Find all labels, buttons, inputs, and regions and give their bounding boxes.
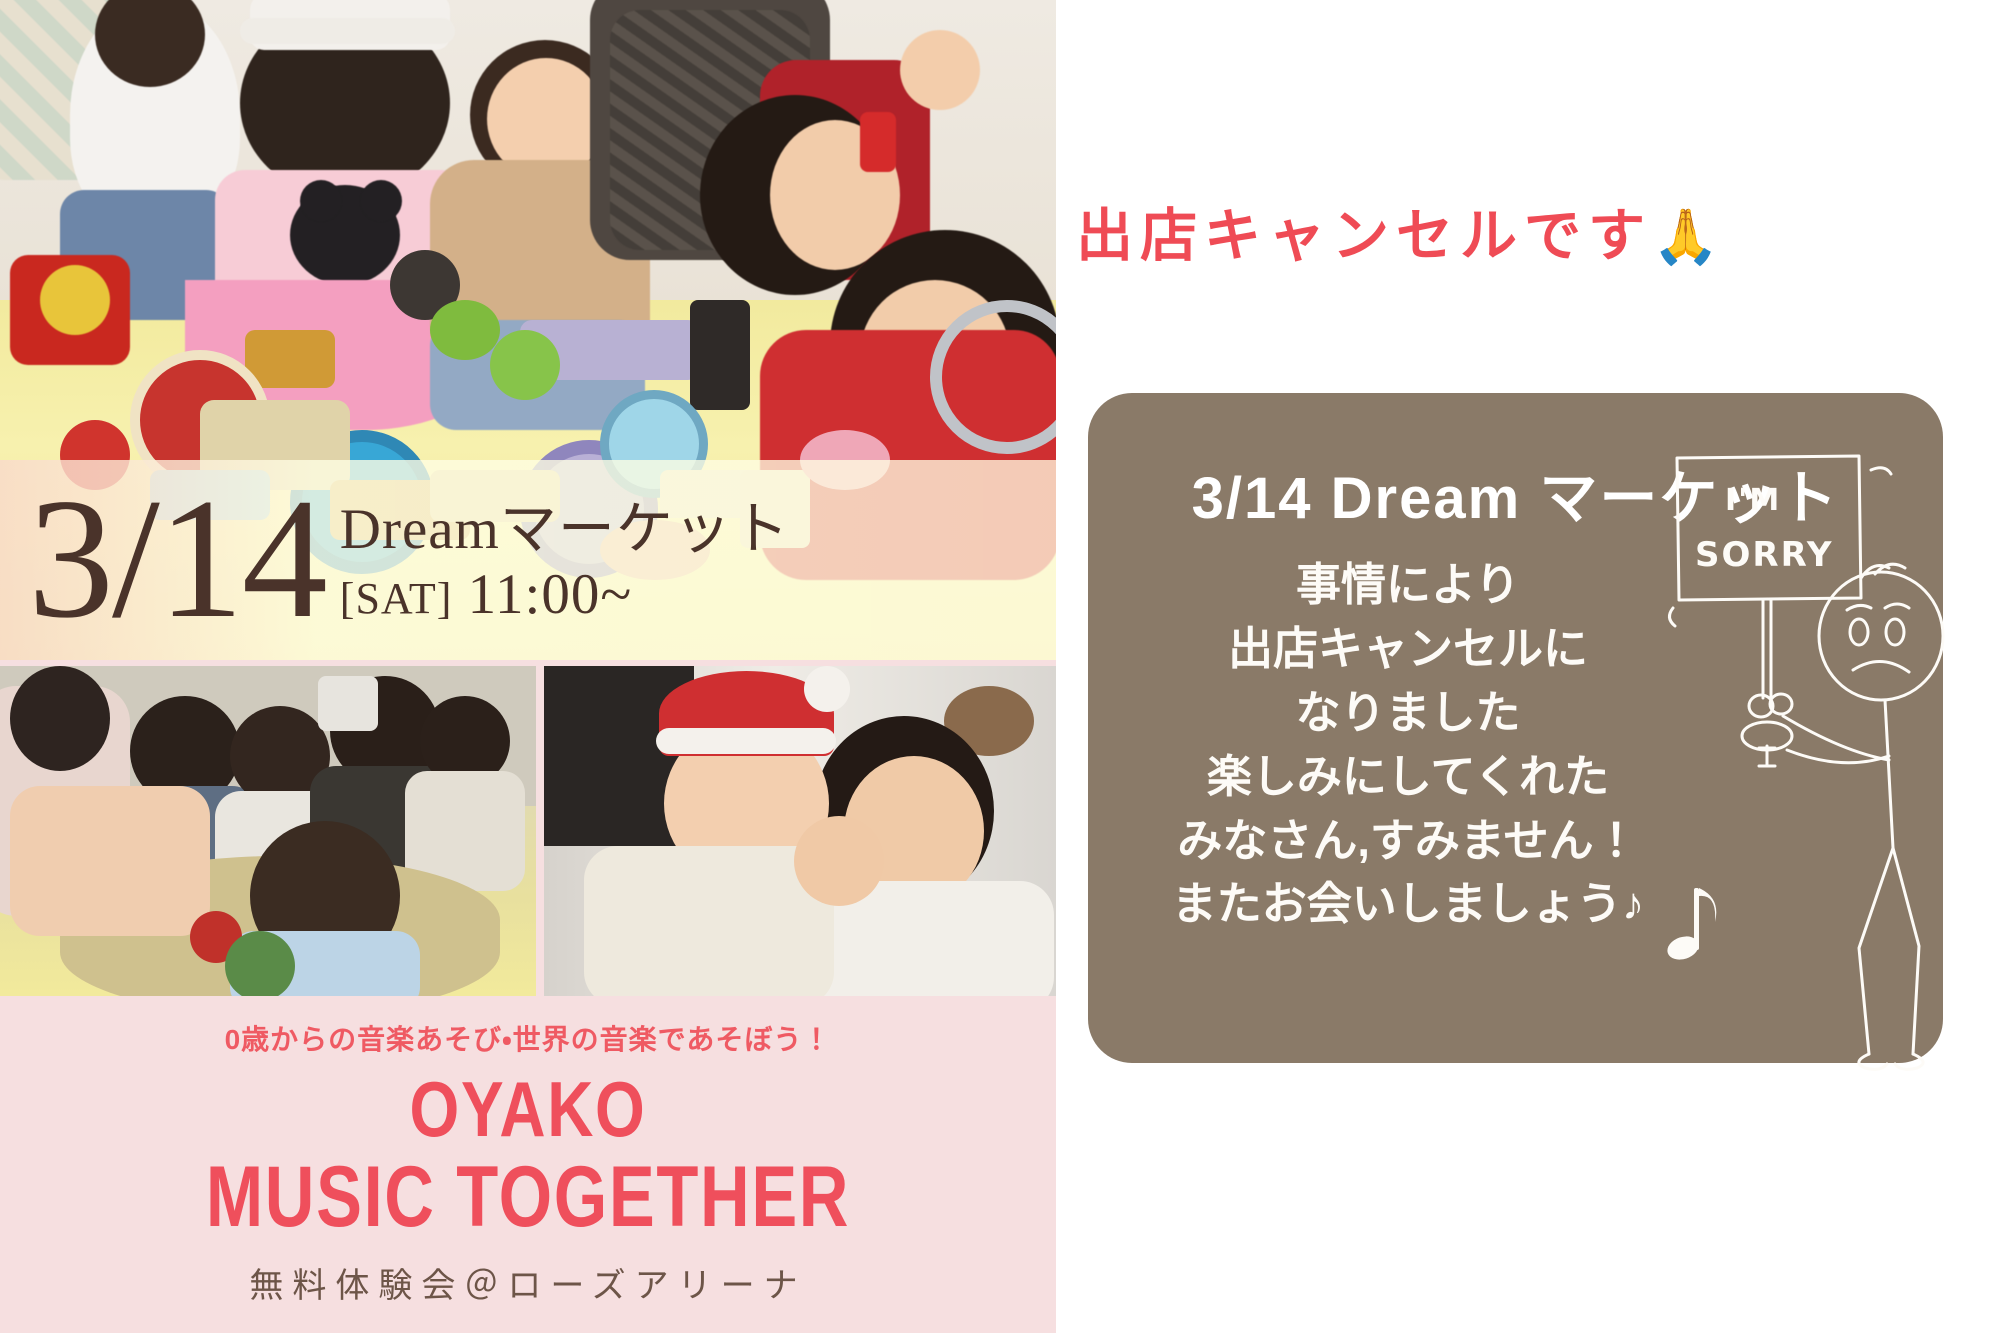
sketch-spark-top (1871, 468, 1891, 474)
notice-card-body: 事情により 出店キャンセルに なりました 楽しみにしてくれた みなさん,すみませ… (1128, 553, 1688, 936)
event-date: 3/14 (28, 486, 326, 634)
notice-body-line-4: 楽しみにしてくれた (1128, 745, 1688, 809)
notice-body-line-6: またお会いしましょう♪ (1128, 872, 1688, 936)
toy-wood-drum (245, 330, 335, 388)
notice-body-line-5: みなさん,すみません！ (1128, 809, 1688, 873)
notice-body-line-2: 出店キャンセルに (1128, 617, 1688, 681)
sign-line-2: SORRY (1695, 535, 1834, 575)
photo-left-cup (318, 676, 378, 731)
photo-right-santa-hat-brim (656, 728, 836, 754)
hero-strawberry-hairclip (860, 112, 896, 172)
photo-left-hands (10, 786, 210, 936)
cancellation-headline-text: 出店キャンセルです (1076, 204, 1652, 268)
photo-children-around-table (0, 666, 536, 996)
sketch-spark-bottom (1669, 608, 1675, 626)
toy-green-shaker (490, 330, 560, 400)
stick-figure-head (1819, 564, 1943, 700)
event-time: 11:00~ (468, 563, 633, 626)
hero-girl-santa-hat-brim (240, 18, 455, 44)
poster-photo-row (0, 666, 1056, 996)
event-name-block: Dreamマーケット [SAT] 11:00~ (340, 497, 790, 634)
date-banner-content: 3/14 Dreamマーケット [SAT] 11:00~ (0, 486, 1056, 634)
sign-line-1: I'M (1725, 483, 1781, 518)
poster-footer: 0歳からの音楽あそび・世界の音楽であそぼう！ OYAKO MUSIC TOGET… (0, 996, 1056, 1333)
event-poster: 3/14 Dreamマーケット [SAT] 11:00~ (0, 0, 1056, 1333)
poster-tagline: 0歳からの音楽あそび・世界の音楽であそぼう！ (0, 1018, 1056, 1058)
brand-name-line1: OYAKO (95, 1070, 961, 1148)
hero-toy-yellow (40, 265, 110, 335)
photo-mother-and-baby (544, 666, 1056, 996)
brand-name-line2: MUSIC TOGETHER (106, 1154, 951, 1240)
poster-date-banner: 3/14 Dreamマーケット [SAT] 11:00~ (0, 460, 1056, 660)
toy-green-egg (430, 300, 500, 360)
notice-card: 3/14 Dream マーケット 事情により 出店キャンセルに なりました 楽し… (1088, 393, 1943, 1063)
announcement-panel: 出店キャンセルです🙏 3/14 Dream マーケット 事情により 出店キャンセ… (1056, 0, 1999, 1333)
event-name-line2: [SAT] 11:00~ (340, 562, 790, 628)
praying-hands-icon: 🙏 (1652, 207, 1719, 267)
screenshot-root: 3/14 Dreamマーケット [SAT] 11:00~ (0, 0, 1999, 1333)
event-day: [SAT] (340, 574, 453, 623)
photo-right-santa-hat-pompom (804, 666, 850, 712)
music-note-icon (1664, 888, 1716, 963)
photo-right-mother-hand (794, 816, 884, 906)
notice-body-line-1: 事情により (1128, 553, 1688, 617)
toy-black-stand (690, 300, 750, 410)
hero-minnie-ear-left (300, 180, 342, 222)
cancellation-headline: 出店キャンセルです🙏 (1076, 190, 1986, 272)
sorry-stick-figure-illustration: I'M SORRY (1663, 448, 1963, 1068)
event-name-line1: Dreamマーケット (340, 497, 790, 563)
hero-minnie-ear-right (360, 180, 402, 222)
stick-figure-body (1783, 700, 1923, 1069)
notice-body-line-3: なりました (1128, 681, 1688, 745)
poster-venue: 無料体験会＠ローズアリーナ (0, 1258, 1056, 1307)
photo-left-green-egg (225, 931, 295, 996)
photo-left-adult-head (10, 666, 110, 771)
hero-hand (900, 30, 980, 110)
